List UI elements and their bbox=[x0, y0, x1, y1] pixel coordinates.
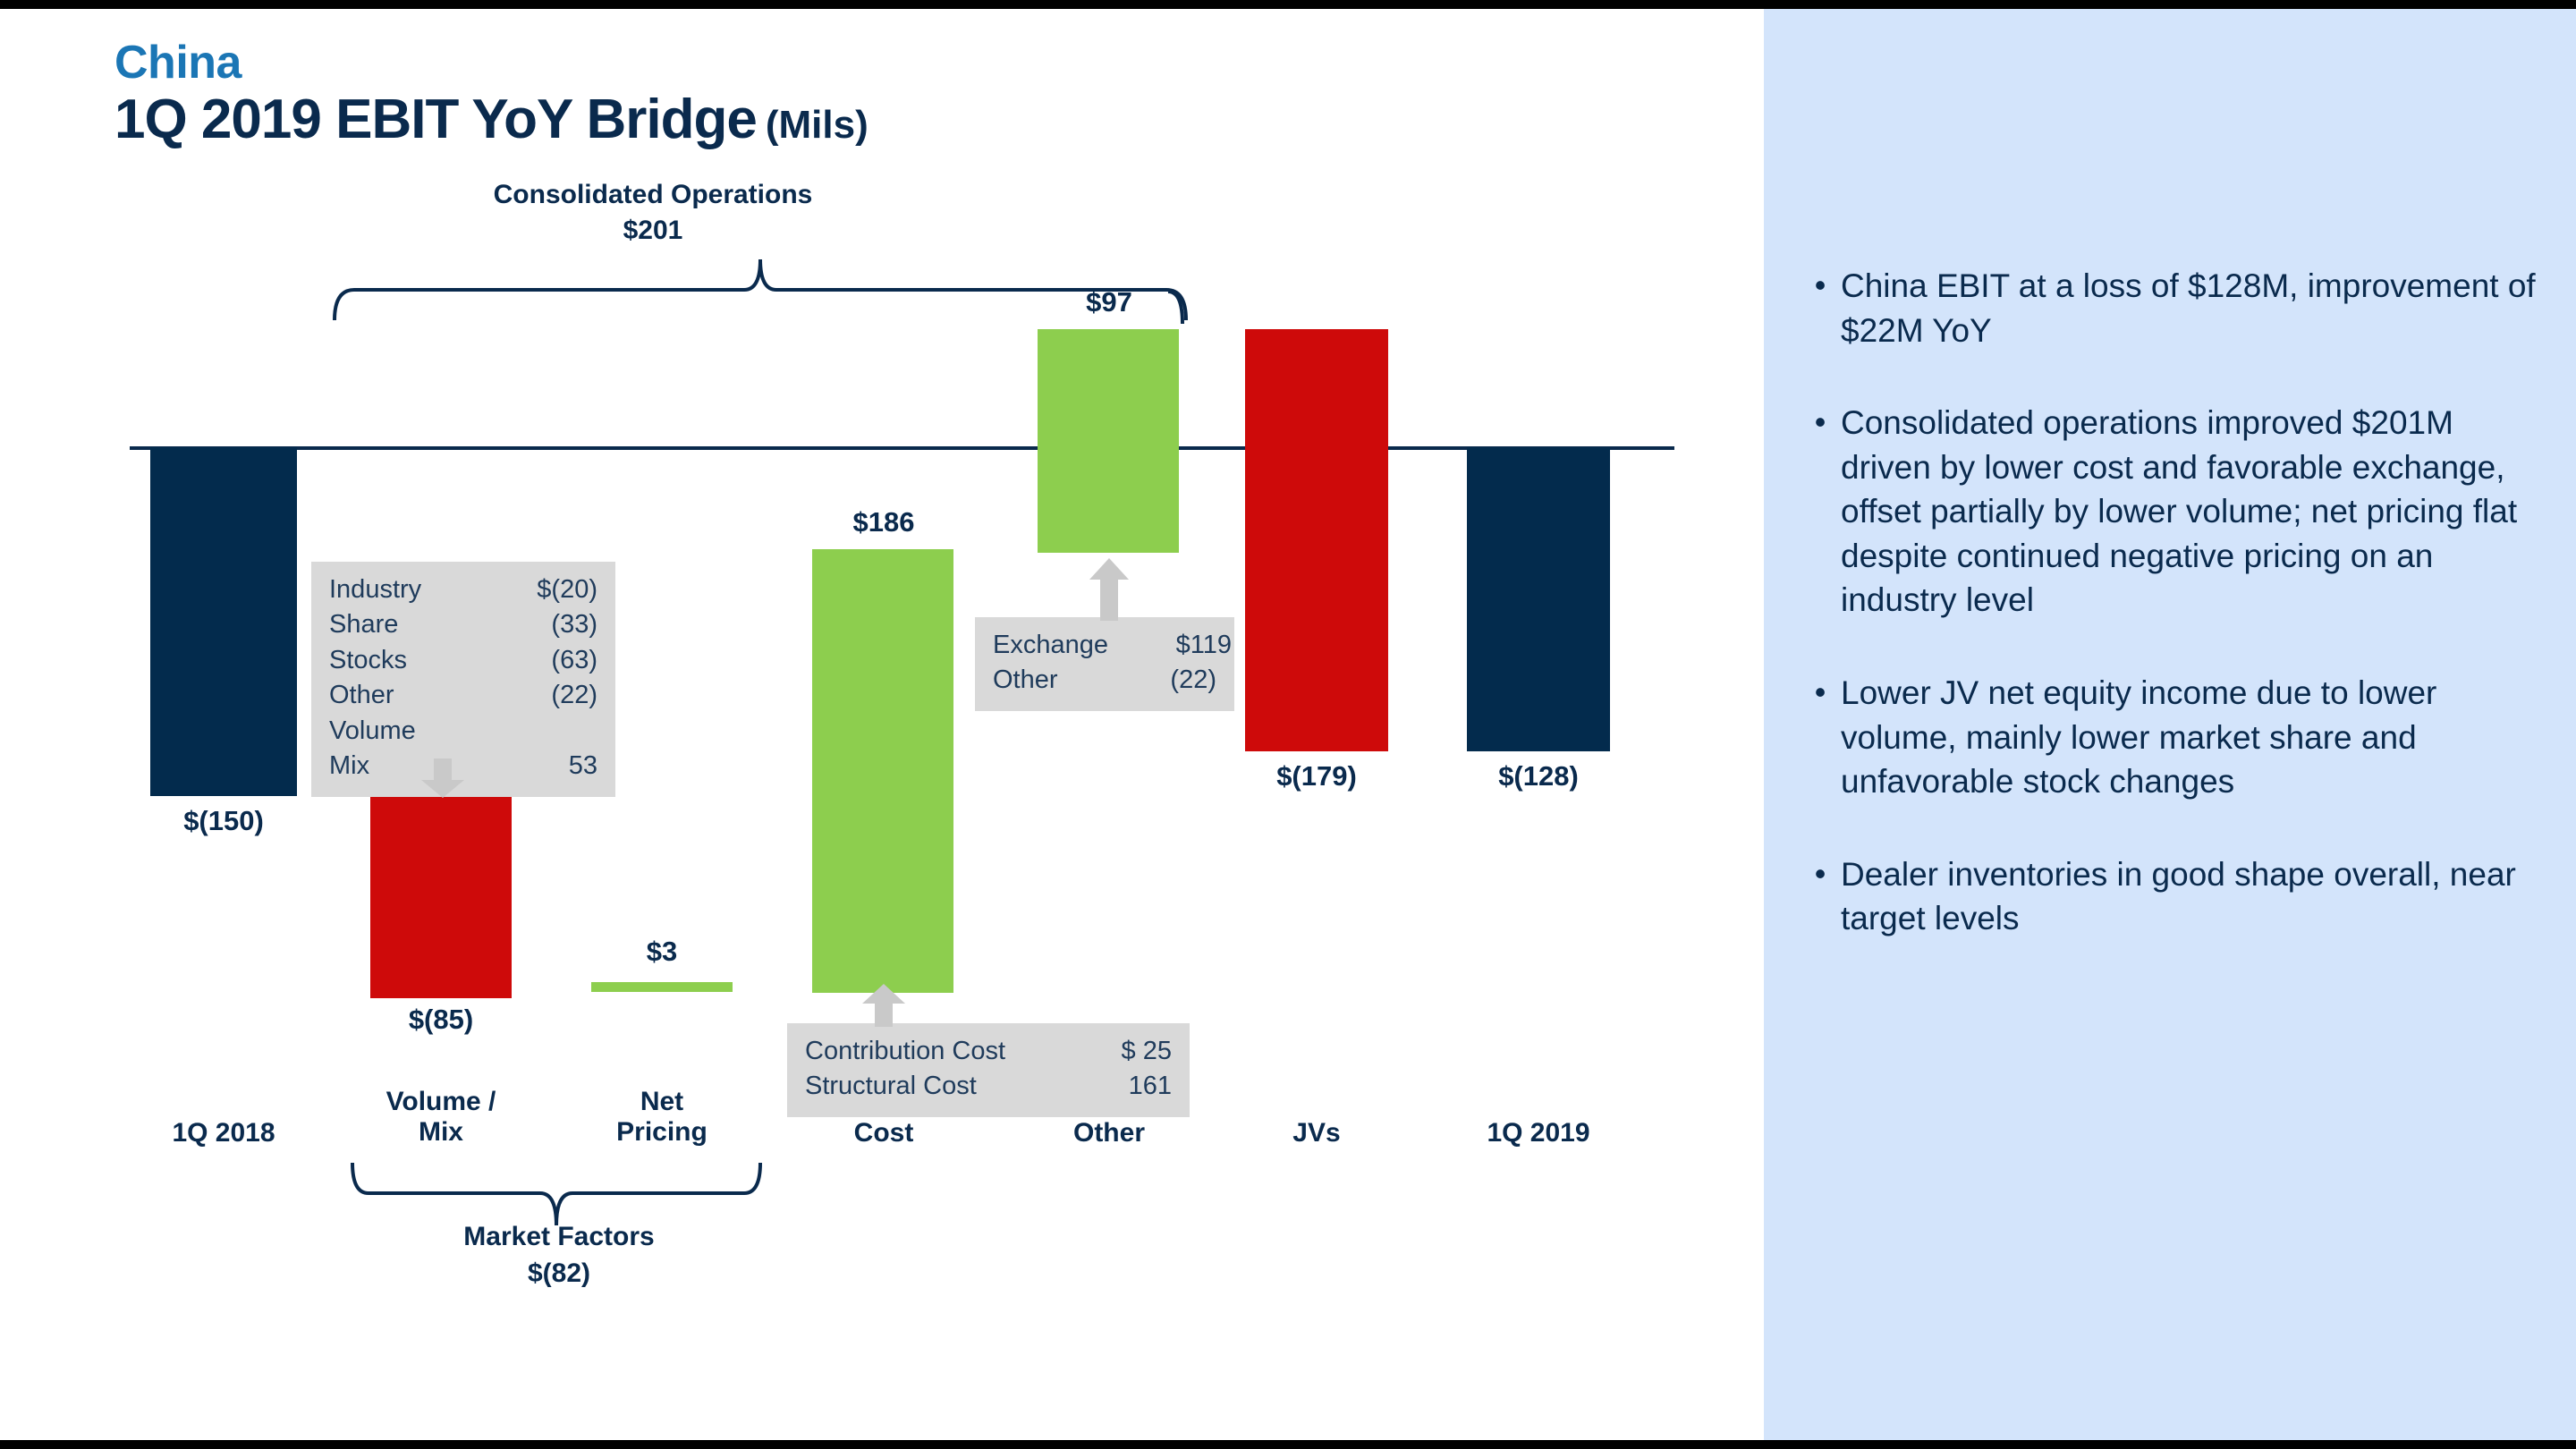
bar-jvs[interactable] bbox=[1245, 329, 1388, 751]
bullet-dot-icon: • bbox=[1800, 401, 1841, 623]
callout-value: $(20) bbox=[501, 572, 597, 607]
bullet-dot-icon: • bbox=[1800, 852, 1841, 941]
callout-key: Other Volume bbox=[329, 678, 501, 749]
category-label-cost: Cost bbox=[776, 1118, 991, 1148]
callout-key: Mix bbox=[329, 749, 396, 784]
bar-value-net-pricing: $3 bbox=[546, 936, 778, 968]
arrow-up-icon-other bbox=[1084, 558, 1134, 621]
category-label-1q-2018: 1Q 2018 bbox=[116, 1118, 331, 1148]
bullet-text: Lower JV net equity income due to lower … bbox=[1841, 671, 2549, 804]
bar-1q-2018[interactable] bbox=[150, 447, 297, 796]
bracket-consolidated-value: $201 bbox=[429, 215, 877, 247]
list-item: • Dealer inventories in good shape overa… bbox=[1800, 852, 2549, 941]
bar-1q-2019[interactable] bbox=[1467, 447, 1610, 751]
callout-key: Stocks bbox=[329, 643, 434, 678]
list-item: • China EBIT at a loss of $128M, improve… bbox=[1800, 264, 2549, 352]
top-edge-bar bbox=[0, 0, 2576, 9]
bullet-text: Dealer inventories in good shape overall… bbox=[1841, 852, 2549, 941]
category-label-net-pricing: NetPricing bbox=[555, 1087, 769, 1147]
commentary-panel: • China EBIT at a loss of $128M, improve… bbox=[1764, 9, 2576, 1440]
list-item: • Consolidated operations improved $201M… bbox=[1800, 401, 2549, 623]
callout-value: (22) bbox=[501, 678, 597, 749]
callout-key: Share bbox=[329, 607, 425, 642]
bar-value-cost: $186 bbox=[767, 506, 1000, 538]
bar-value-other: $97 bbox=[993, 286, 1225, 318]
callout-key: Other bbox=[993, 663, 1085, 698]
callout-row: Industry $(20) bbox=[329, 572, 597, 607]
callout-cost: Contribution Cost $ 25 Structural Cost 1… bbox=[787, 1023, 1190, 1117]
bottom-edge-bar bbox=[0, 1440, 2576, 1449]
bracket-consolidated-label: Consolidated Operations bbox=[429, 179, 877, 211]
bar-other[interactable] bbox=[1038, 329, 1179, 553]
callout-key: Industry bbox=[329, 572, 448, 607]
callout-value: $ 25 bbox=[1075, 1034, 1172, 1069]
arrow-down-icon-volume-mix bbox=[418, 758, 468, 800]
category-label-1q-2019: 1Q 2019 bbox=[1431, 1118, 1646, 1148]
callout-row: Stocks (63) bbox=[329, 643, 597, 678]
callout-row: Share (33) bbox=[329, 607, 597, 642]
bar-cost[interactable] bbox=[812, 549, 953, 993]
callout-key: Contribution Cost bbox=[805, 1034, 1032, 1069]
callout-value: (63) bbox=[501, 643, 597, 678]
callout-row: Other Volume (22) bbox=[329, 678, 597, 749]
bracket-market-factors-label: Market Factors bbox=[358, 1221, 760, 1253]
callout-key: Exchange bbox=[993, 628, 1135, 663]
bullet-list: • China EBIT at a loss of $128M, improve… bbox=[1800, 264, 2549, 989]
ebit-waterfall-chart: Consolidated Operations $201 $(150) $(85… bbox=[0, 9, 1764, 1440]
bar-value-1q-2019: $(128) bbox=[1422, 760, 1655, 792]
bullet-text: China EBIT at a loss of $128M, improveme… bbox=[1841, 264, 2549, 352]
category-label-jvs: JVs bbox=[1209, 1118, 1424, 1148]
arrow-up-icon-cost bbox=[859, 984, 909, 1027]
callout-row: Exchange $119 bbox=[993, 628, 1216, 663]
bar-value-volume-mix: $(85) bbox=[325, 1004, 557, 1036]
category-label-volume-mix: Volume /Mix bbox=[334, 1087, 548, 1147]
list-item: • Lower JV net equity income due to lowe… bbox=[1800, 671, 2549, 804]
callout-value: $119 bbox=[1135, 628, 1232, 663]
bar-value-jvs: $(179) bbox=[1200, 760, 1433, 792]
bar-volume-mix[interactable] bbox=[370, 794, 512, 998]
bracket-market-factors-value: $(82) bbox=[358, 1258, 760, 1290]
bullet-text: Consolidated operations improved $201M d… bbox=[1841, 401, 2549, 623]
bullet-dot-icon: • bbox=[1800, 671, 1841, 804]
callout-row: Contribution Cost $ 25 bbox=[805, 1034, 1172, 1069]
callout-row: Structural Cost 161 bbox=[805, 1069, 1172, 1104]
callout-value: (33) bbox=[501, 607, 597, 642]
slide-content-area: China 1Q 2019 EBIT YoY Bridge(Mils) Cons… bbox=[0, 9, 1764, 1440]
callout-key: Structural Cost bbox=[805, 1069, 1004, 1104]
bar-value-1q-2018: $(150) bbox=[107, 805, 340, 837]
callout-other: Exchange $119 Other (22) bbox=[975, 617, 1234, 711]
callout-value: 53 bbox=[501, 749, 597, 784]
callout-value: (22) bbox=[1120, 663, 1216, 698]
zero-axis-line bbox=[130, 446, 1674, 450]
category-label-other: Other bbox=[1002, 1118, 1216, 1148]
bar-net-pricing[interactable] bbox=[591, 982, 733, 992]
callout-value: 161 bbox=[1075, 1069, 1172, 1104]
bullet-dot-icon: • bbox=[1800, 264, 1841, 352]
callout-row: Other (22) bbox=[993, 663, 1216, 698]
